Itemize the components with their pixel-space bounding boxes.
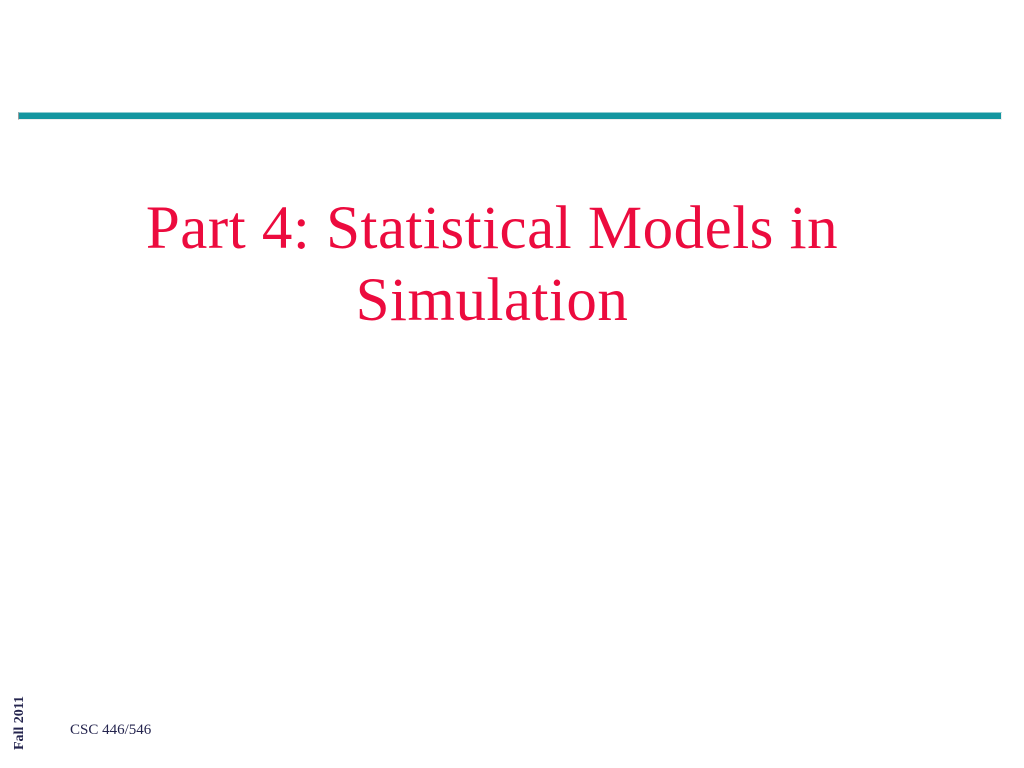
- title-divider-rule: [18, 112, 1002, 120]
- footer-course-code: CSC 446/546: [70, 721, 151, 739]
- footer-term-text: Fall 2011: [12, 696, 28, 750]
- presentation-slide: Part 4: Statistical Models in Simulation…: [0, 0, 1024, 768]
- slide-title-line-1: Part 4: Statistical Models in: [92, 193, 892, 265]
- slide-title-block: Part 4: Statistical Models in Simulation: [92, 193, 892, 337]
- slide-title-line-2: Simulation: [92, 265, 892, 337]
- footer-term-label: Fall 2011: [5, 688, 35, 758]
